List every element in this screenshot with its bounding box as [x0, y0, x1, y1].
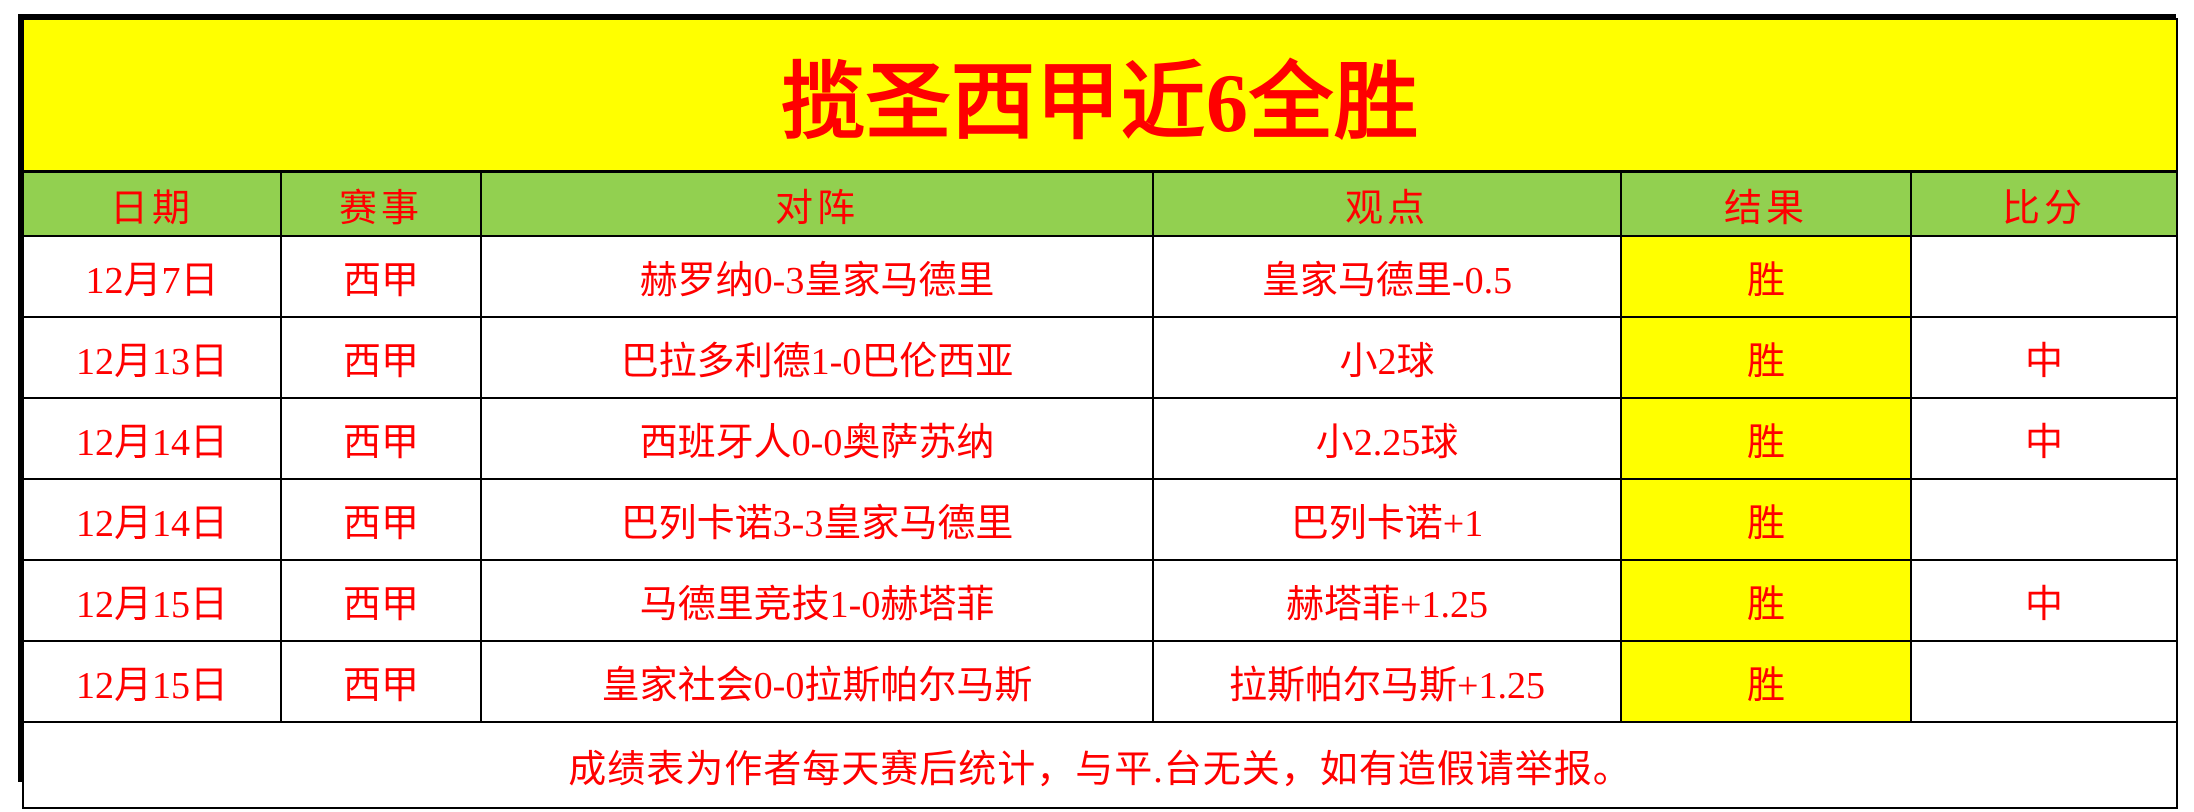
- table-row: 12月15日 西甲 皇家社会0-0拉斯帕尔马斯 拉斯帕尔马斯+1.25 胜: [23, 641, 2177, 722]
- cell-match: 西班牙人0-0奥萨苏纳: [481, 398, 1153, 479]
- table-header-row: 日期 赛事 对阵 观点 结果 比分: [23, 172, 2177, 237]
- cell-result: 胜: [1621, 560, 1911, 641]
- results-table: 揽圣西甲近6全胜 日期 赛事 对阵 观点 结果 比分 12月7日 西甲 赫罗纳0…: [22, 18, 2178, 809]
- cell-match: 赫罗纳0-3皇家马德里: [481, 236, 1153, 317]
- cell-date: 12月13日: [23, 317, 281, 398]
- footer-note: 成绩表为作者每天赛后统计，与平.台无关，如有造假请举报。: [23, 722, 2177, 808]
- column-header-result: 结果: [1621, 172, 1911, 237]
- cell-score: 中: [1911, 560, 2177, 641]
- column-header-match: 对阵: [481, 172, 1153, 237]
- cell-competition: 西甲: [281, 560, 481, 641]
- cell-competition: 西甲: [281, 479, 481, 560]
- cell-result: 胜: [1621, 398, 1911, 479]
- cell-competition: 西甲: [281, 317, 481, 398]
- page-title: 揽圣西甲近6全胜: [23, 19, 2177, 172]
- cell-result: 胜: [1621, 479, 1911, 560]
- cell-view: 小2.25球: [1153, 398, 1621, 479]
- table-row: 12月7日 西甲 赫罗纳0-3皇家马德里 皇家马德里-0.5 胜: [23, 236, 2177, 317]
- cell-date: 12月15日: [23, 641, 281, 722]
- cell-match: 巴拉多利德1-0巴伦西亚: [481, 317, 1153, 398]
- cell-competition: 西甲: [281, 398, 481, 479]
- cell-score: [1911, 641, 2177, 722]
- table-row: 12月14日 西甲 西班牙人0-0奥萨苏纳 小2.25球 胜 中: [23, 398, 2177, 479]
- cell-match: 巴列卡诺3-3皇家马德里: [481, 479, 1153, 560]
- cell-score: 中: [1911, 398, 2177, 479]
- cell-view: 拉斯帕尔马斯+1.25: [1153, 641, 1621, 722]
- cell-view: 巴列卡诺+1: [1153, 479, 1621, 560]
- column-header-competition: 赛事: [281, 172, 481, 237]
- cell-view: 小2球: [1153, 317, 1621, 398]
- footer-row: 成绩表为作者每天赛后统计，与平.台无关，如有造假请举报。: [23, 722, 2177, 808]
- column-header-date: 日期: [23, 172, 281, 237]
- column-header-view: 观点: [1153, 172, 1621, 237]
- cell-score: 中: [1911, 317, 2177, 398]
- cell-date: 12月15日: [23, 560, 281, 641]
- cell-score: [1911, 236, 2177, 317]
- cell-view: 赫塔菲+1.25: [1153, 560, 1621, 641]
- table-row: 12月15日 西甲 马德里竞技1-0赫塔菲 赫塔菲+1.25 胜 中: [23, 560, 2177, 641]
- cell-match: 皇家社会0-0拉斯帕尔马斯: [481, 641, 1153, 722]
- column-header-score: 比分: [1911, 172, 2177, 237]
- cell-score: [1911, 479, 2177, 560]
- cell-match: 马德里竞技1-0赫塔菲: [481, 560, 1153, 641]
- table-row: 12月13日 西甲 巴拉多利德1-0巴伦西亚 小2球 胜 中: [23, 317, 2177, 398]
- stats-table-sheet: 揽圣西甲近6全胜 日期 赛事 对阵 观点 结果 比分 12月7日 西甲 赫罗纳0…: [18, 14, 2176, 782]
- cell-date: 12月14日: [23, 479, 281, 560]
- cell-competition: 西甲: [281, 236, 481, 317]
- cell-competition: 西甲: [281, 641, 481, 722]
- cell-result: 胜: [1621, 236, 1911, 317]
- cell-view: 皇家马德里-0.5: [1153, 236, 1621, 317]
- cell-result: 胜: [1621, 317, 1911, 398]
- cell-result: 胜: [1621, 641, 1911, 722]
- title-row: 揽圣西甲近6全胜: [23, 19, 2177, 172]
- cell-date: 12月14日: [23, 398, 281, 479]
- cell-date: 12月7日: [23, 236, 281, 317]
- table-row: 12月14日 西甲 巴列卡诺3-3皇家马德里 巴列卡诺+1 胜: [23, 479, 2177, 560]
